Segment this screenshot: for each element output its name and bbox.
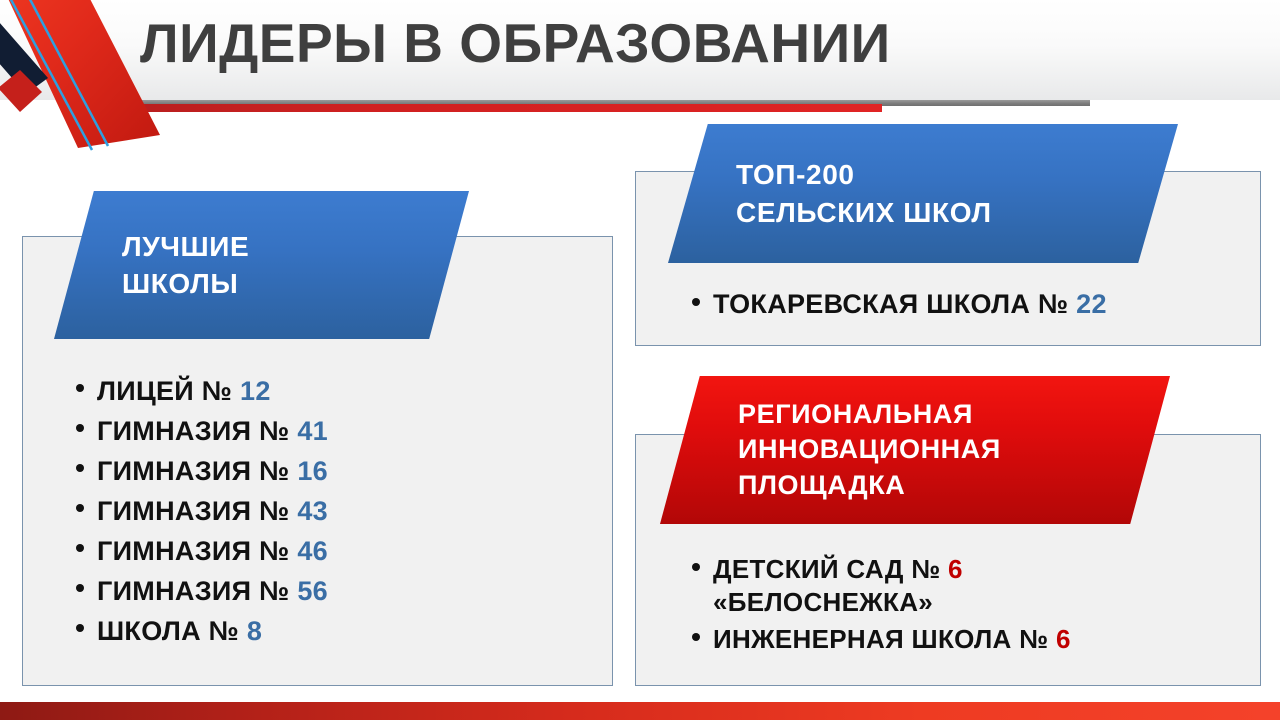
list-item: ГИМНАЗИЯ № 43 (72, 491, 328, 531)
school-name: ГИМНАЗИЯ № (97, 536, 297, 566)
list-item: ДЕТСКИЙ САД № 6 «БЕЛОСНЕЖКА» (688, 553, 1071, 619)
institution-suffix: «БЕЛОСНЕЖКА» (713, 587, 933, 617)
rural-top200-banner-line1: ТОП-200 (736, 156, 992, 193)
rural-top200-banner-line2: СЕЛЬСКИХ ШКОЛ (736, 194, 992, 231)
school-name: ГИМНАЗИЯ № (97, 456, 297, 486)
institution-number: 6 (948, 554, 963, 584)
best-schools-banner: ЛУЧШИЕ ШКОЛЫ (54, 191, 469, 339)
list-item: ИНЖЕНЕРНАЯ ШКОЛА № 6 (688, 623, 1071, 656)
corner-decoration-icon (0, 0, 300, 180)
school-number: 12 (240, 376, 271, 406)
best-schools-banner-line1: ЛУЧШИЕ (122, 228, 249, 265)
school-number: 41 (297, 416, 328, 446)
list-item: ЛИЦЕЙ № 12 (72, 371, 328, 411)
list-item: ГИМНАЗИЯ № 16 (72, 451, 328, 491)
list-item: ТОКАРЕВСКАЯ ШКОЛА № 22 (688, 285, 1107, 323)
school-name: ЛИЦЕЙ № (97, 376, 240, 406)
school-number: 16 (297, 456, 328, 486)
regional-innovation-list: ДЕТСКИЙ САД № 6 «БЕЛОСНЕЖКА» ИНЖЕНЕРНАЯ … (688, 553, 1071, 660)
regional-innovation-banner-line3: ПЛОЩАДКА (738, 468, 1001, 503)
school-number: 56 (297, 576, 328, 606)
institution-name: ИНЖЕНЕРНАЯ ШКОЛА № (713, 624, 1056, 654)
school-name: ГИМНАЗИЯ № (97, 416, 297, 446)
regional-innovation-banner-text: РЕГИОНАЛЬНАЯ ИННОВАЦИОННАЯ ПЛОЩАДКА (738, 397, 1001, 502)
rural-top200-banner-text: ТОП-200 СЕЛЬСКИХ ШКОЛ (736, 156, 992, 230)
institution-name: ДЕТСКИЙ САД № (713, 554, 948, 584)
school-name: ГИМНАЗИЯ № (97, 576, 297, 606)
school-name: ТОКАРЕВСКАЯ ШКОЛА № (713, 289, 1076, 319)
rural-top200-banner: ТОП-200 СЕЛЬСКИХ ШКОЛ (668, 124, 1178, 263)
school-name: ШКОЛА № (97, 616, 247, 646)
list-item: ГИМНАЗИЯ № 41 (72, 411, 328, 451)
list-item: ШКОЛА № 8 (72, 611, 328, 651)
best-schools-banner-line2: ШКОЛЫ (122, 265, 249, 302)
best-schools-banner-text: ЛУЧШИЕ ШКОЛЫ (122, 228, 249, 302)
list-item: ГИМНАЗИЯ № 56 (72, 571, 328, 611)
school-number: 8 (247, 616, 262, 646)
school-number: 43 (297, 496, 328, 526)
school-number: 46 (297, 536, 328, 566)
regional-innovation-banner-line1: РЕГИОНАЛЬНАЯ (738, 397, 1001, 432)
bottom-accent-bar (0, 702, 1280, 720)
institution-number: 6 (1056, 624, 1071, 654)
regional-innovation-banner-line2: ИННОВАЦИОННАЯ (738, 432, 1001, 467)
best-schools-list: ЛИЦЕЙ № 12 ГИМНАЗИЯ № 41 ГИМНАЗИЯ № 16 Г… (72, 371, 328, 651)
rural-top200-list: ТОКАРЕВСКАЯ ШКОЛА № 22 (688, 285, 1107, 323)
school-number: 22 (1076, 289, 1107, 319)
list-item: ГИМНАЗИЯ № 46 (72, 531, 328, 571)
school-name: ГИМНАЗИЯ № (97, 496, 297, 526)
regional-innovation-banner: РЕГИОНАЛЬНАЯ ИННОВАЦИОННАЯ ПЛОЩАДКА (660, 376, 1170, 524)
